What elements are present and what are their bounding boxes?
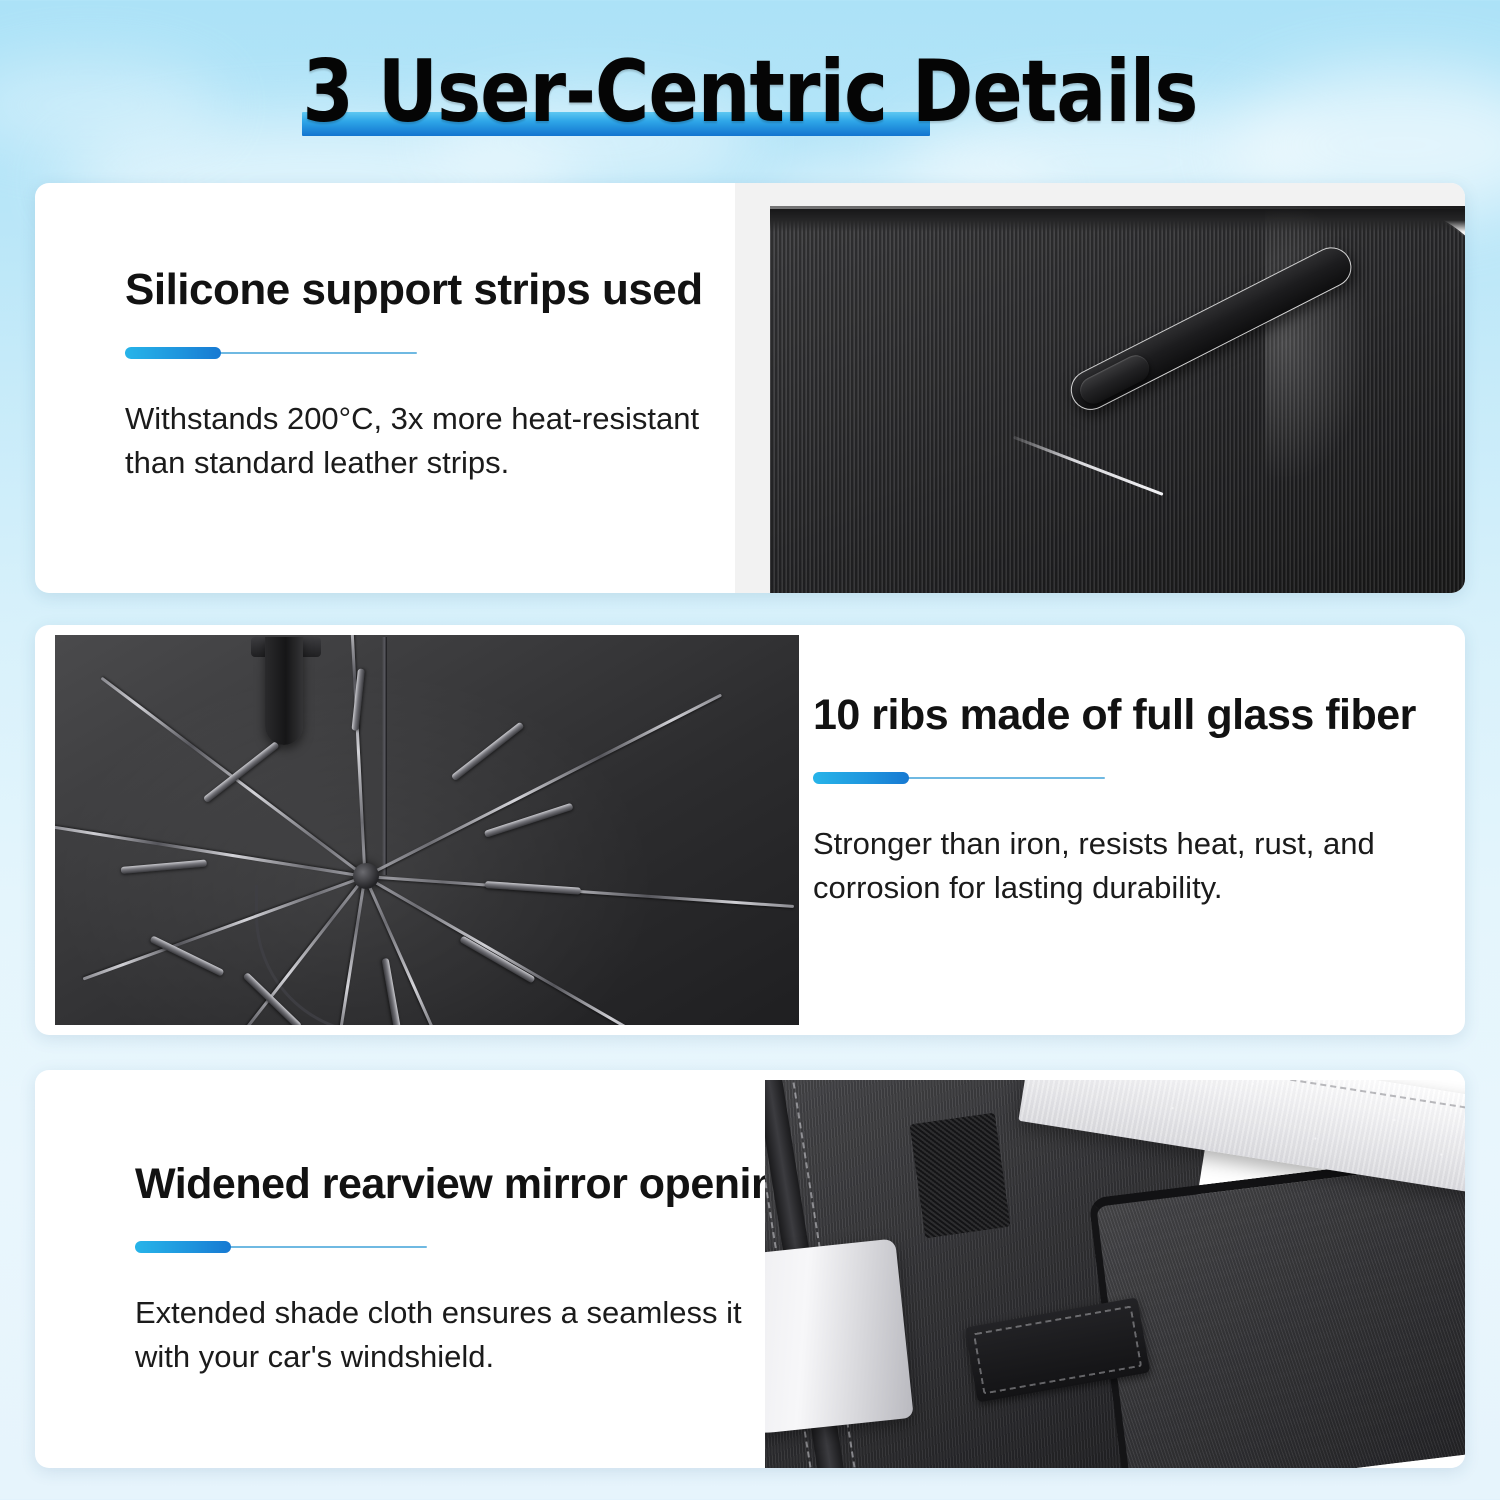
- velcro-patch-graphic: [909, 1113, 1010, 1239]
- rib-hub-graphic: [353, 863, 379, 889]
- feature-description: Stronger than iron, resists heat, rust, …: [813, 822, 1465, 910]
- feature-divider: [135, 1241, 427, 1253]
- feature-image-silicone-strip: [735, 183, 1465, 593]
- divider-accent-bar: [813, 772, 909, 784]
- shade-cloth-right-graphic: [1088, 1148, 1465, 1468]
- feature-title: Widened rearview mirror opening: [135, 1162, 795, 1207]
- feature-text-block: Widened rearview mirror opening Extended…: [135, 1162, 795, 1468]
- feature-image-mirror-opening: [765, 1080, 1465, 1468]
- feature-card-widened-mirror-opening: Widened rearview mirror opening Extended…: [35, 1070, 1465, 1468]
- strap-curl-graphic: [765, 1238, 914, 1441]
- feature-card-silicone-support-strips: Silicone support strips used Withstands …: [35, 183, 1465, 593]
- feature-title: Silicone support strips used: [125, 267, 745, 313]
- divider-accent-bar: [125, 347, 221, 359]
- shaft-graphic: [382, 637, 387, 875]
- handle-graphic: [265, 637, 303, 745]
- feature-text-block: Silicone support strips used Withstands …: [125, 267, 745, 593]
- canopy-graphic: [55, 635, 799, 1025]
- divider-accent-bar: [135, 1241, 231, 1253]
- feature-description: Extended shade cloth ensures a seamless …: [135, 1291, 795, 1379]
- feature-card-glass-fiber-ribs: 10 ribs made of full glass fiber Stronge…: [35, 625, 1465, 1035]
- panel-corner-sheen-graphic: [1265, 203, 1465, 503]
- feature-image-umbrella-ribs: [55, 635, 799, 1025]
- feature-text-block: 10 ribs made of full glass fiber Stronge…: [813, 693, 1465, 1035]
- page-title: 3 User-Centric Details: [105, 42, 1395, 142]
- page-title-wrap: 3 User-Centric Details: [0, 42, 1500, 142]
- feature-divider: [813, 772, 1105, 784]
- feature-divider: [125, 347, 417, 359]
- feature-description: Withstands 200°C, 3x more heat-resistant…: [125, 397, 745, 485]
- page-header: 3 User-Centric Details: [0, 0, 1500, 175]
- feature-title: 10 ribs made of full glass fiber: [813, 693, 1465, 738]
